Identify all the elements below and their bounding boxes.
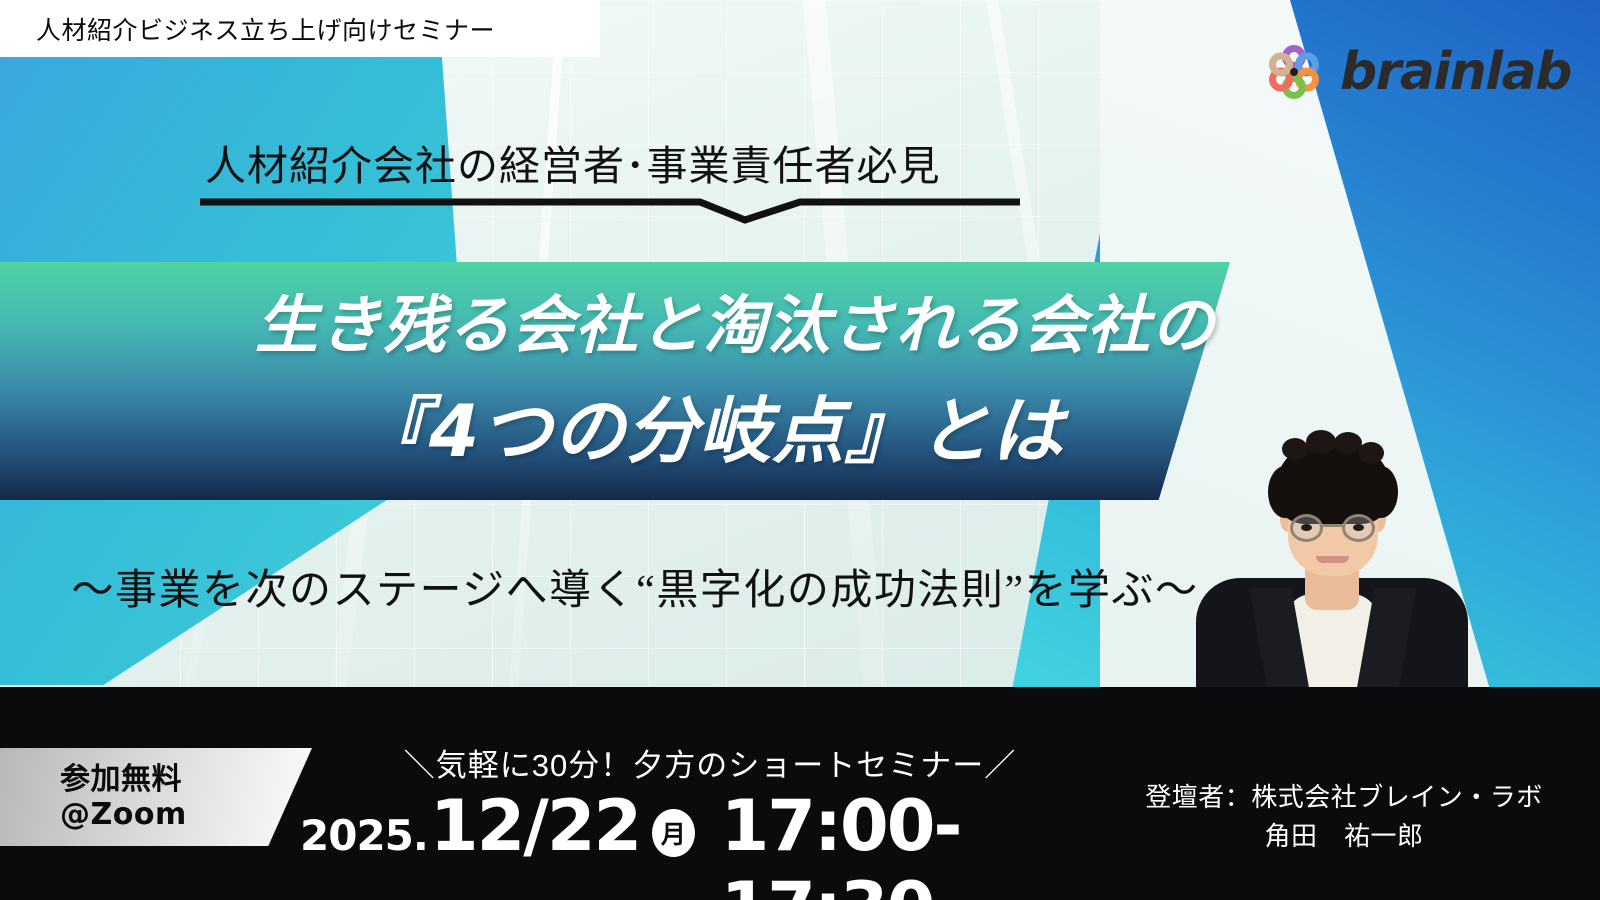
tagline-prefix: 〜事業を次のステージへ導く“ [72, 568, 657, 614]
event-datetime-row: 2025. 12/22 月 17:00-17:30 [300, 785, 1120, 857]
speaker-credit: 登壇者：株式会社ブレイン・ラボ 角田 祐一郎 [1124, 778, 1564, 856]
event-year: 2025. [300, 811, 428, 860]
brainlab-logo: brainlab [1262, 40, 1571, 104]
free-badge-line-2: @Zoom [0, 797, 312, 832]
speaker-hair-curl [1358, 442, 1384, 464]
subhead-underline-rule [200, 196, 1020, 224]
tagline-highlight: 黒字化の成功法則 [656, 556, 1004, 617]
subhead-text: 人材紹介会社の経営者･事業責任者必見 [205, 132, 1035, 192]
pinwheel-svg [1262, 40, 1326, 104]
speaker-mouth [1316, 556, 1349, 563]
speaker-eye-right [1353, 524, 1364, 531]
event-day-of-week-badge: 月 [652, 809, 694, 857]
speaker-name: 角田 祐一郎 [1124, 817, 1564, 856]
free-participation-badge: 参加無料 @Zoom [0, 748, 312, 846]
speaker-hair-curl [1306, 430, 1336, 454]
free-badge-line-1: 参加無料 [0, 762, 312, 797]
event-date: 12/22 [430, 785, 640, 867]
seminar-category-label: 人材紹介ビジネス立ち上げ向けセミナー [0, 11, 495, 47]
brainlab-wordmark: brainlab [1340, 42, 1571, 102]
speaker-hair-curl [1282, 438, 1308, 460]
speaker-glasses-bridge [1323, 524, 1342, 527]
tagline-suffix: ”を学ぶ〜 [1004, 568, 1198, 614]
tagline: 〜事業を次のステージへ導く“黒字化の成功法則”を学ぶ〜 [72, 556, 1199, 617]
tagline-wrapper: 〜事業を次のステージへ導く“黒字化の成功法則”を学ぶ〜 [0, 556, 1270, 617]
event-time-range: 17:00-17:30 [721, 785, 1120, 900]
seminar-banner: 人材紹介ビジネス立ち上げ向けセミナー [0, 0, 1600, 900]
speaker-eye-left [1301, 524, 1312, 531]
seminar-category-ribbon: 人材紹介ビジネス立ち上げ向けセミナー [0, 0, 600, 57]
speaker-company: 登壇者：株式会社ブレイン・ラボ [1124, 778, 1564, 817]
catch-copy: ＼気軽に30分！夕方のショートセミナー／ [300, 740, 1120, 785]
speaker-photo [1182, 398, 1482, 698]
title-line-1: 生き残る会社と淘汰される会社の [0, 275, 1535, 366]
brainlab-pinwheel-icon [1262, 40, 1326, 104]
